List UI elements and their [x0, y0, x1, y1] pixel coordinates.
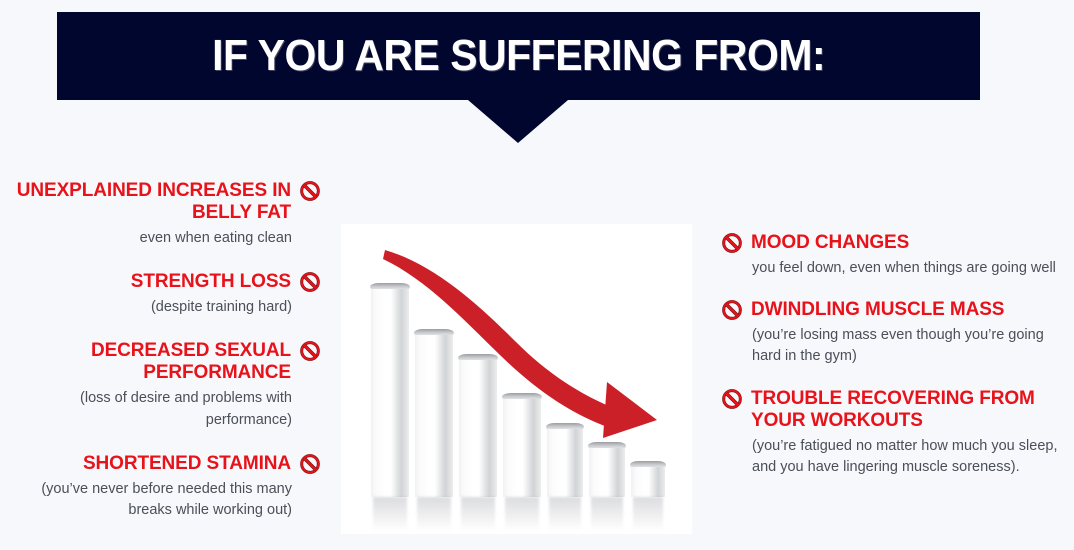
list-item: TROUBLE RECOVERING FROM YOUR WORKOUTS (y…: [722, 388, 1074, 478]
prohibition-icon: [300, 341, 320, 361]
declining-trend-arrow-icon: [341, 224, 692, 534]
symptom-subtext: (you’ve never before needed this many br…: [8, 479, 320, 521]
symptom-header: SHORTENED STAMINA: [0, 453, 320, 475]
symptom-header: MOOD CHANGES: [722, 232, 1074, 254]
symptom-subtext: even when eating clean: [8, 228, 320, 249]
symptom-title: SHORTENED STAMINA: [83, 453, 291, 475]
prohibition-icon: [300, 272, 320, 292]
symptom-title: MOOD CHANGES: [751, 232, 909, 254]
list-item: STRENGTH LOSS (despite training hard): [0, 271, 320, 318]
list-item: UNEXPLAINED INCREASES IN BELLY FAT even …: [0, 180, 320, 249]
list-item: DWINDLING MUSCLE MASS (you’re losing mas…: [722, 299, 1074, 367]
symptom-title: TROUBLE RECOVERING FROM YOUR WORKOUTS: [751, 388, 1051, 432]
symptom-header: DECREASED SEXUAL PERFORMANCE: [0, 340, 320, 384]
symptom-subtext: (you’re fatigued no matter how much you …: [722, 436, 1062, 478]
chart-stage: [341, 224, 692, 534]
prohibition-icon: [722, 233, 742, 253]
symptom-header: STRENGTH LOSS: [0, 271, 320, 293]
symptom-title: DECREASED SEXUAL PERFORMANCE: [9, 340, 291, 384]
page-title: IF YOU ARE SUFFERING FROM:: [212, 34, 825, 78]
symptom-header: TROUBLE RECOVERING FROM YOUR WORKOUTS: [722, 388, 1074, 432]
declining-bar-chart-image: [341, 224, 692, 534]
symptom-title: STRENGTH LOSS: [131, 271, 291, 293]
symptom-header: DWINDLING MUSCLE MASS: [722, 299, 1074, 321]
prohibition-icon: [300, 181, 320, 201]
symptom-subtext: you feel down, even when things are goin…: [722, 258, 1062, 279]
symptom-subtext: (you’re losing mass even though you’re g…: [722, 325, 1062, 367]
header-banner: IF YOU ARE SUFFERING FROM:: [57, 12, 980, 100]
left-symptom-column: UNEXPLAINED INCREASES IN BELLY FAT even …: [0, 180, 320, 543]
list-item: DECREASED SEXUAL PERFORMANCE (loss of de…: [0, 340, 320, 430]
list-item: MOOD CHANGES you feel down, even when th…: [722, 232, 1074, 279]
symptom-header: UNEXPLAINED INCREASES IN BELLY FAT: [0, 180, 320, 224]
prohibition-icon: [722, 300, 742, 320]
banner-pointer-triangle: [468, 100, 568, 143]
symptom-title: UNEXPLAINED INCREASES IN BELLY FAT: [9, 180, 291, 224]
symptom-subtext: (despite training hard): [8, 297, 320, 318]
right-symptom-column: MOOD CHANGES you feel down, even when th…: [722, 232, 1074, 498]
prohibition-icon: [300, 454, 320, 474]
prohibition-icon: [722, 389, 742, 409]
symptom-title: DWINDLING MUSCLE MASS: [751, 299, 1004, 321]
list-item: SHORTENED STAMINA (you’ve never before n…: [0, 453, 320, 521]
symptom-subtext: (loss of desire and problems with perfor…: [8, 388, 320, 430]
